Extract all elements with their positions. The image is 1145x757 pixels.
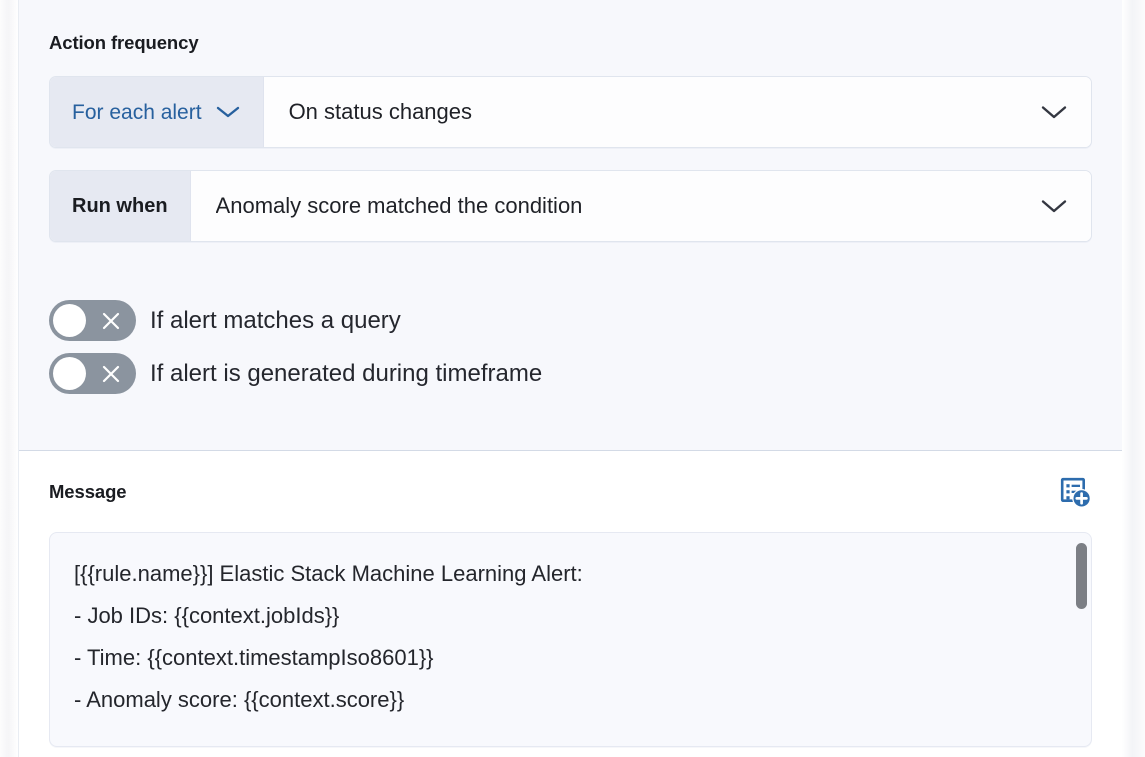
action-frequency-title: Action frequency: [49, 32, 1092, 54]
alert-timeframe-toggle[interactable]: [49, 353, 136, 394]
run-when-label: Run when: [72, 196, 168, 216]
run-when-label-group: Run when: [50, 171, 191, 241]
alert-filter-toggles: If alert matches a query If alert is gen…: [49, 300, 1092, 394]
action-frequency-section: Action frequency For each alert On statu…: [19, 0, 1122, 451]
notify-when-select[interactable]: On status changes: [264, 77, 1091, 147]
for-each-alert-label: For each alert: [72, 102, 202, 123]
toggle-knob: [53, 357, 86, 390]
message-textarea-container: [{{rule.name}}] Elastic Stack Machine Le…: [49, 532, 1092, 747]
run-when-row: Run when Anomaly score matched the condi…: [49, 170, 1092, 242]
panel-body: Action frequency For each alert On statu…: [18, 0, 1122, 757]
alert-matches-query-label: If alert matches a query: [150, 309, 401, 333]
action-settings-flyout: Action frequency For each alert On statu…: [0, 0, 1145, 757]
cross-icon: [86, 300, 136, 341]
add-variable-icon: [1058, 498, 1092, 513]
chevron-down-icon: [1039, 197, 1069, 215]
for-each-alert-selector[interactable]: For each alert: [50, 77, 264, 147]
message-section: Message: [19, 451, 1122, 747]
action-frequency-row: For each alert On status changes: [49, 76, 1092, 148]
chevron-down-icon: [215, 104, 241, 120]
message-title: Message: [49, 481, 126, 503]
run-when-select[interactable]: Anomaly score matched the condition: [191, 171, 1091, 241]
chevron-down-icon: [1039, 103, 1069, 121]
alert-timeframe-label: If alert is generated during timeframe: [150, 362, 542, 386]
add-variable-button[interactable]: [1058, 476, 1092, 510]
cross-icon: [86, 353, 136, 394]
toggle-row-query: If alert matches a query: [49, 300, 1092, 341]
message-textarea[interactable]: [{{rule.name}}] Elastic Stack Machine Le…: [50, 533, 1091, 721]
toggle-knob: [53, 304, 86, 337]
message-scrollbar[interactable]: [1073, 533, 1089, 746]
panel-left-shadow: [0, 0, 18, 757]
alert-matches-query-toggle[interactable]: [49, 300, 136, 341]
notify-when-value: On status changes: [289, 99, 472, 125]
message-header: Message: [49, 481, 1092, 510]
scrollbar-thumb[interactable]: [1076, 543, 1087, 609]
panel-right-shadow: [1122, 0, 1145, 757]
toggle-row-timeframe: If alert is generated during timeframe: [49, 353, 1092, 394]
run-when-value: Anomaly score matched the condition: [216, 193, 583, 219]
